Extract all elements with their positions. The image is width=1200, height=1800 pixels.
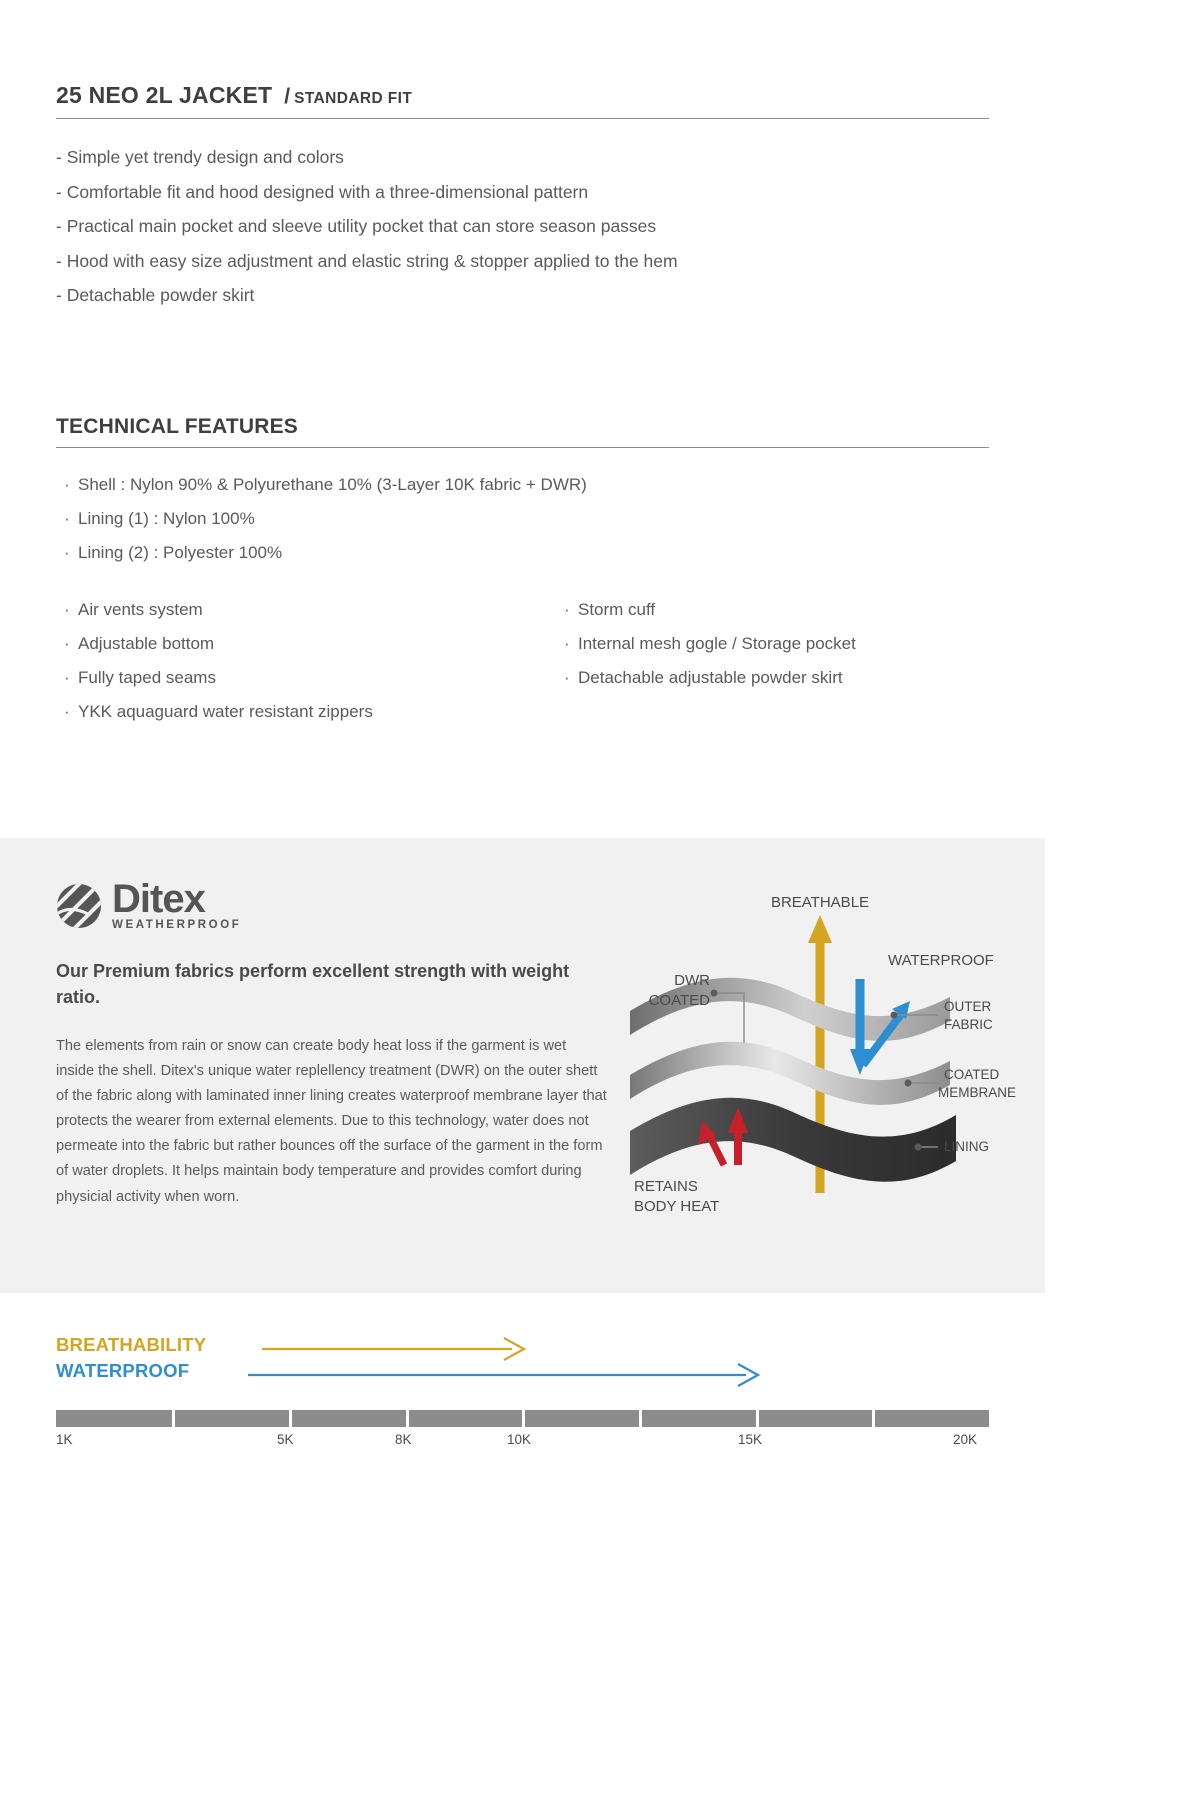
- lining-dot: [915, 1144, 922, 1151]
- label-retains-line1: RETAINS: [634, 1178, 698, 1195]
- label-outer-line2: FABRIC: [944, 1017, 993, 1032]
- bar-divider: [756, 1410, 759, 1427]
- list-item-label: Lining (2) : Polyester 100%: [78, 543, 282, 562]
- list-item: ·Lining (1) : Nylon 100%: [64, 510, 989, 527]
- list-item: ·Storm cuff: [564, 601, 856, 618]
- feature-columns: ·Air vents system ·Adjustable bottom ·Fu…: [64, 601, 989, 737]
- list-item: ·YKK aquaguard water resistant zippers: [64, 703, 564, 720]
- list-item: ·Shell : Nylon 90% & Polyurethane 10% (3…: [64, 476, 989, 493]
- ditex-wordmark: Ditex WEATHERPROOF: [112, 880, 241, 931]
- ditex-tagline: WEATHERPROOF: [112, 919, 241, 931]
- layer-lining: [630, 1098, 956, 1182]
- product-fit: STANDARD FIT: [294, 90, 412, 108]
- list-item-label: Storm cuff: [578, 600, 655, 619]
- label-outer-line1: OUTER: [944, 999, 992, 1014]
- tick-label: 20K: [953, 1432, 977, 1447]
- label-lining: LINING: [944, 1139, 989, 1154]
- bar-divider: [172, 1410, 175, 1427]
- feature-list-right: ·Storm cuff ·Internal mesh gogle / Stora…: [564, 601, 856, 737]
- spec-sheet-page: 25 NEO 2L JACKET / STANDARD FIT - Simple…: [0, 0, 1045, 1568]
- bullet-glyph: ·: [64, 635, 78, 652]
- bullet-glyph: ·: [64, 703, 78, 720]
- tick-label: 1K: [56, 1432, 73, 1447]
- ditex-brand-name: Ditex: [112, 880, 241, 918]
- title-separator: /: [284, 85, 290, 109]
- tick-label: 15K: [738, 1432, 762, 1447]
- label-dwr-line2: COATED: [649, 992, 711, 1009]
- label-waterproof: WATERPROOF: [888, 952, 994, 969]
- list-item: - Detachable powder skirt: [56, 287, 989, 305]
- bar-divider: [639, 1410, 642, 1427]
- label-dwr-line1: DWR: [674, 972, 710, 989]
- bullet-glyph: ·: [64, 669, 78, 686]
- ditex-headline: Our Premium fabrics perform excellent st…: [56, 958, 596, 1010]
- list-item: - Hood with easy size adjustment and ela…: [56, 253, 989, 271]
- scale-ticks: 1K 5K 8K 10K 15K 20K: [0, 1432, 1045, 1456]
- bar-divider: [872, 1410, 875, 1427]
- bullet-glyph: ·: [64, 510, 78, 527]
- outer-fabric-dot: [891, 1012, 898, 1019]
- list-item: ·Detachable adjustable powder skirt: [564, 669, 856, 686]
- page-title: 25 NEO 2L JACKET / STANDARD FIT: [56, 0, 989, 119]
- list-item: - Comfortable fit and hood designed with…: [56, 184, 989, 202]
- bullet-glyph: ·: [64, 476, 78, 493]
- ditex-panel: Ditex WEATHERPROOF Our Premium fabrics p…: [0, 838, 1045, 1293]
- feature-list-left: ·Air vents system ·Adjustable bottom ·Fu…: [64, 601, 564, 737]
- bar-divider: [406, 1410, 409, 1427]
- label-membrane-line2: MEMBRANE: [938, 1085, 1016, 1100]
- bullet-glyph: ·: [564, 601, 578, 618]
- list-item-label: Detachable adjustable powder skirt: [578, 668, 843, 687]
- product-title: 25 NEO 2L JACKET: [56, 82, 272, 109]
- list-item-label: YKK aquaguard water resistant zippers: [78, 702, 373, 721]
- bullet-glyph: ·: [564, 635, 578, 652]
- product-section: 25 NEO 2L JACKET / STANDARD FIT - Simple…: [0, 0, 1045, 737]
- label-breathable: BREATHABLE: [771, 894, 869, 911]
- list-item: - Practical main pocket and sleeve utili…: [56, 218, 989, 236]
- scale-arrows: [0, 1324, 1045, 1404]
- tick-label: 5K: [277, 1432, 294, 1447]
- ditex-body-text: The elements from rain or snow can creat…: [56, 1034, 608, 1210]
- bullet-glyph: ·: [564, 669, 578, 686]
- materials-list: ·Shell : Nylon 90% & Polyurethane 10% (3…: [64, 476, 989, 561]
- list-item-label: Fully taped seams: [78, 668, 216, 687]
- bar-divider: [522, 1410, 525, 1427]
- list-item-label: Adjustable bottom: [78, 634, 214, 653]
- label-membrane-line1: COATED: [944, 1067, 1000, 1082]
- layer-coated-membrane: [630, 1042, 950, 1105]
- list-item: ·Internal mesh gogle / Storage pocket: [564, 635, 856, 652]
- performance-scale: BREATHABILITY WATERPROOF 1K 5K 8K: [0, 1310, 1045, 1500]
- list-item: ·Fully taped seams: [64, 669, 564, 686]
- label-retains-line2: BODY HEAT: [634, 1198, 719, 1215]
- list-item-label: Internal mesh gogle / Storage pocket: [578, 634, 856, 653]
- list-item: ·Adjustable bottom: [64, 635, 564, 652]
- ditex-mark-icon: [56, 883, 102, 929]
- fabric-layer-diagram: BREATHABLE DWR COATED WATERPROOF OUTER F…: [620, 893, 1020, 1253]
- list-item-label: Shell : Nylon 90% & Polyurethane 10% (3-…: [78, 475, 587, 494]
- product-highlights: - Simple yet trendy design and colors - …: [56, 149, 989, 305]
- waterproof-arrow-icon: [248, 1364, 758, 1386]
- bullet-glyph: ·: [64, 544, 78, 561]
- bar-divider: [289, 1410, 292, 1427]
- tick-label: 10K: [507, 1432, 531, 1447]
- scale-bar: [56, 1410, 989, 1427]
- list-item: ·Air vents system: [64, 601, 564, 618]
- list-item-label: Air vents system: [78, 600, 203, 619]
- coated-membrane-dot: [905, 1080, 912, 1087]
- tick-label: 8K: [395, 1432, 412, 1447]
- list-item: ·Lining (2) : Polyester 100%: [64, 544, 989, 561]
- ditex-logo: Ditex WEATHERPROOF: [56, 880, 241, 931]
- technical-features-heading: TECHNICAL FEATURES: [56, 415, 989, 448]
- breathability-arrow-icon: [262, 1338, 524, 1360]
- dwr-leader-dot: [711, 990, 718, 997]
- list-item: - Simple yet trendy design and colors: [56, 149, 989, 167]
- list-item-label: Lining (1) : Nylon 100%: [78, 509, 255, 528]
- bullet-glyph: ·: [64, 601, 78, 618]
